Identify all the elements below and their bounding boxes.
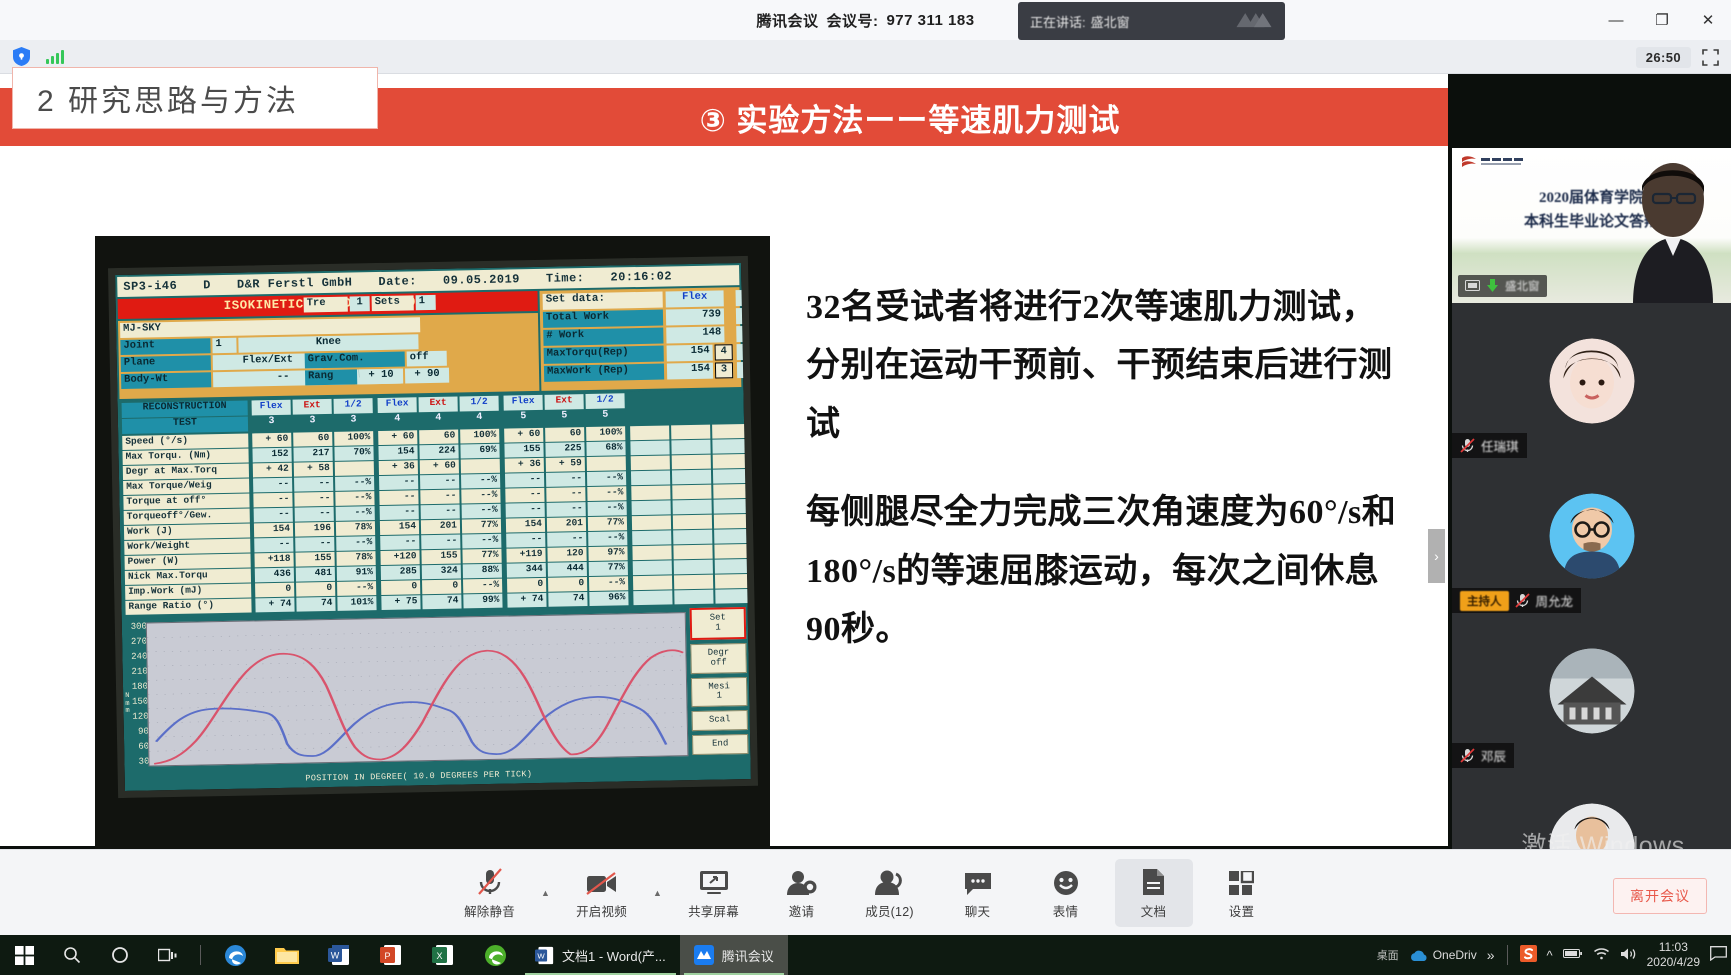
meeting-toolbar: 解除静音▲开启视频▲共享屏幕邀请成员(12)聊天表情文档设置 英 离开会议 [0,849,1731,935]
set-data-row-label-2: MaxTorqu(Rep) [544,346,664,364]
current-speaker-pill: 正在讲话: 盛北窗 [1018,2,1285,40]
maximize-button[interactable]: ❐ [1639,0,1685,40]
results-group-number: 3 [252,416,291,432]
results-group-header: 1/2 [459,396,498,412]
crt-monitor: SP3-i46 D D&R Ferstl GmbH Date: 09.05.20… [108,256,758,798]
set-data-row3-flex: 154 [667,363,713,380]
results-cell: -- [294,492,333,507]
results-cell: 120 [547,547,586,562]
mic-off-icon [1460,748,1475,763]
tray-date: 2020/4/29 [1647,955,1700,970]
results-cell-empty [715,574,754,589]
results-cell: -- [379,475,418,490]
task-view-icon[interactable] [144,935,192,975]
tray-onedrive-label: OneDriv [1433,948,1477,962]
set-data-row1-flex: 148 [666,326,724,343]
toolbar-mute-button[interactable]: 解除静音 [451,859,529,927]
avatar [1549,493,1634,578]
results-cell: + 59 [546,457,585,472]
results-group-header: Flex [378,397,417,413]
university-logo-icon [1461,155,1533,169]
results-group-header: Flex [503,395,542,411]
results-cell: 0 [548,577,587,592]
results-cell: 224 [419,444,458,459]
toolbar-docs-button[interactable]: 文档 [1115,859,1193,927]
participant-rail[interactable]: 2020届体育学院 本科生毕业论文答辩 [1452,148,1731,923]
tile-name-bar: 邓辰 [1452,743,1514,768]
leave-meeting-button[interactable]: 离开会议 [1613,878,1707,914]
set-data-row2-rep1: 4 [715,344,733,360]
taskbar-browser-icon[interactable] [469,935,521,975]
participant-name: 任瑞琪 [1481,436,1519,455]
torque-position-graph [146,612,689,766]
file-explorer-icon [275,945,299,965]
results-cell: --% [461,489,500,504]
results-cell-empty [633,575,672,590]
page-title: ③ 实验方法ーー等速肌力测试 [390,90,1430,144]
screen-share-icon[interactable] [1465,280,1480,293]
meeting-number-label: 会议号: [826,10,878,31]
machine-field-joint-v2: Knee [238,334,418,352]
results-cell-empty [714,544,753,559]
volume-icon[interactable] [1620,947,1637,964]
taskbar-window[interactable]: 腾讯会议 [680,935,788,975]
window-controls: — ❐ ✕ [1593,0,1731,40]
results-cell-empty [715,589,754,604]
browser-icon [484,944,507,967]
machine-date: 09.05.2019 [443,273,520,287]
results-cell: -- [254,538,293,553]
results-cell: 100% [334,431,373,446]
results-group-header: Ext [293,399,332,415]
svg-text:P: P [384,951,390,961]
set-data-col-flex: Flex [666,290,724,307]
results-cell: 100% [460,429,499,444]
toolbar-emoji-button[interactable]: 表情 [1027,859,1105,927]
results-cell: -- [546,487,585,502]
close-button[interactable]: ✕ [1685,0,1731,40]
machine-field-range-min: + 10 [359,369,403,385]
results-cell-empty [633,560,672,575]
tile-name-bar: 主持人周允龙 [1452,588,1581,613]
results-cell: 97% [588,546,627,561]
results-cell: --% [462,534,501,549]
results-cell: --% [335,491,374,506]
tray-clock[interactable]: 11:03 2020/4/29 [1647,940,1700,970]
taskbar-pinned-apps: WPX [209,935,521,975]
toolbar-emoji-label: 表情 [1053,901,1078,920]
results-cell: 74 [422,594,461,609]
minimize-button[interactable]: — [1593,0,1639,40]
results-cell-empty [672,455,711,470]
results-cell-empty [632,530,671,545]
toolbar-mute-label: 解除静音 [464,901,515,920]
smiley-icon [1053,866,1079,896]
results-row-label: Max Torqu. (Nm) [122,449,248,465]
results-cell: --% [461,474,500,489]
tray-chevron-up-icon[interactable]: ^ [1547,948,1553,963]
results-cell: 285 [381,565,420,580]
results-cell: 201 [547,517,586,532]
taskbar-edge-icon[interactable] [209,935,261,975]
results-row-label: Speed (°/s) [122,434,248,450]
results-cell: -- [295,537,334,552]
results-table-mount: RECONSTRUCTIONTESTSpeed (°/s)Max Torqu. … [120,389,746,619]
word-icon: W [328,944,350,966]
results-cell: -- [547,532,586,547]
results-group-header: Ext [544,394,583,410]
results-row-label: Torque at off° [123,494,249,510]
results-cell: 0 [381,580,420,595]
toolbar-share-button[interactable]: 共享屏幕 [675,859,753,927]
results-cell: 344 [507,563,546,578]
graph-y-axis-label: Nmm [125,693,130,716]
statusbar-right: 26:50 [1636,40,1725,74]
video-tile-self[interactable]: 2020届体育学院 本科生毕业论文答辩 [1452,148,1731,303]
app-name: 腾讯会议 [756,10,818,31]
results-cell [461,459,500,474]
battery-icon[interactable] [1563,948,1583,962]
self-ppt-background: 2020届体育学院 本科生毕业论文答辩 [1452,148,1731,303]
graph-y-tick: 120 [132,712,148,721]
results-cell-empty [714,514,753,529]
machine-field-range-max: + 90 [405,368,449,384]
video-tile[interactable]: 主持人周允龙 [1452,458,1731,613]
results-cell-empty [631,485,670,500]
results-cell: 96% [589,591,628,606]
self-tile-controls[interactable]: 盛北窗 [1458,275,1547,297]
notification-icon[interactable] [1710,946,1727,964]
results-cell: + 60 [420,459,459,474]
results-cell: --% [588,501,627,516]
results-cell-empty [632,500,671,515]
results-group-number: 5 [504,411,543,427]
search-icon[interactable] [48,935,96,975]
results-cell: 154 [506,518,545,533]
tray-onedrive[interactable]: OneDriv [1409,948,1477,962]
machine-field-sets-label: Sets [372,295,414,311]
toolbar-members-button[interactable]: 成员(12) [851,859,929,927]
mic-off-icon [477,866,503,896]
results-cell: +118 [254,553,293,568]
taskbar-window-title: 文档1 - Word(产... [562,946,666,965]
results-cell-empty [673,515,712,530]
set-data-title: Set data: [543,292,663,310]
graph-y-tick: 210 [131,668,147,677]
results-row-label: Work/Weight [124,539,250,555]
results-cell [587,456,626,471]
results-cell: 217 [293,447,332,462]
toolbar-video-label: 开启视频 [576,901,627,920]
results-cell-empty [674,590,713,605]
results-cell: + 74 [255,598,294,613]
wifi-icon[interactable] [1593,947,1610,963]
results-cell-empty [713,454,752,469]
machine-date-label: Date: [378,275,417,288]
tray-overflow[interactable]: » [1487,947,1495,963]
results-cell: -- [380,505,419,520]
results-cell: 324 [422,564,461,579]
graph-y-tick: 270 [131,638,147,647]
tray-divider [1507,945,1508,965]
machine-code: D [203,279,211,292]
results-cell: 70% [334,446,373,461]
toolbar-invite-button[interactable]: 邀请 [763,859,841,927]
toolbar-settings-button[interactable]: 设置 [1203,859,1281,927]
word-icon: W [535,946,554,965]
taskbar-powerpoint-icon[interactable]: P [365,935,417,975]
results-cell: -- [254,508,293,523]
graph-svg [147,613,688,765]
results-cell: 154 [380,520,419,535]
side-keys-mount: Set1DegroffMesi1ScalEnd [690,607,749,755]
slide-paragraph-2: 每侧腿尽全力完成三次角速度为60°/s和180°/s的等速屈膝运动，每次之间休息… [806,484,1406,659]
security-shield-icon[interactable] [8,44,34,70]
results-cell: 225 [545,442,584,457]
results-cell: -- [379,490,418,505]
set-data-row-label-1: # Work [543,328,663,346]
fullscreen-icon[interactable] [1695,44,1725,70]
slide-section-chip: 2 研究思路与方法 [12,67,378,129]
results-cell: + 60 [504,428,543,443]
results-cell: 481 [296,567,335,582]
toolbar-members-label: 成员(12) [865,901,913,920]
tencent-meeting-icon [694,945,714,965]
machine-field-grav-v: off [407,351,447,367]
results-cell-empty [671,425,710,440]
results-cell: 60 [545,427,584,442]
meeting-number: 977 311 183 [886,12,974,29]
results-group-number: 3 [334,414,373,430]
grid-settings-icon [1229,866,1254,896]
slide-paragraph-1: 32名受试者将进行2次等速肌力测试，分别在运动干预前、干预结束后进行测试 [806,279,1406,454]
onedrive-icon [1409,949,1428,962]
chat-bubble-icon [964,866,992,896]
graph-y-tick: 240 [131,653,147,662]
results-cell: + 60 [378,430,417,445]
toolbar-settings-label: 设置 [1229,901,1254,920]
results-cell: -- [295,507,334,522]
results-group-number: 5 [586,409,625,425]
results-cell: + 36 [505,458,544,473]
results-cell: 77% [589,561,628,576]
svg-text:X: X [436,951,442,961]
machine-device: SP3-i46 [123,280,177,294]
set-data-row2-ext: 224 [737,343,758,360]
results-cell: 0 [507,578,546,593]
download-icon[interactable] [1486,279,1499,293]
results-cell: -- [294,477,333,492]
collapse-rail-button[interactable]: › [1428,529,1445,583]
machine-side-key[interactable]: Set1 [690,607,747,640]
document-icon [1142,866,1165,896]
graph-y-tick: 300 [131,623,147,632]
toolbar-video-caret[interactable]: ▲ [651,859,665,927]
results-corner-2: TEST [122,417,248,434]
titlebar-center: 腾讯会议 会议号: 977 311 183 [0,0,1731,40]
taskbar-excel-icon[interactable]: X [417,935,469,975]
results-cell: 78% [336,521,375,536]
machine-time: 20:16:02 [610,270,672,284]
machine-set-data: Set data: Flex Ext 1/2 Max Total Work 73… [539,287,741,391]
results-cell: 88% [463,564,502,579]
results-cell: 0 [255,583,294,598]
results-cell-empty [715,559,754,574]
results-cell-empty [712,424,751,439]
graph-y-tick: 180 [132,683,148,692]
taskbar-word-icon[interactable]: W [313,935,365,975]
results-cell: --% [462,504,501,519]
participant-name: 周允龙 [1536,591,1574,610]
results-cell-empty [630,425,669,440]
host-badge: 主持人 [1460,591,1509,611]
results-cell: 101% [337,596,376,611]
set-data-row0-ext: 959 [736,307,758,324]
results-group-number: 4 [419,413,458,429]
machine-side-keys: Set1DegroffMesi1ScalEnd [690,607,749,772]
mic-off-icon [1460,438,1475,453]
results-row-label: Max Torque/Weig [123,479,249,495]
results-cell: + 60 [252,433,291,448]
results-cell: 444 [548,562,587,577]
machine-side-key[interactable]: Mesi1 [691,677,748,708]
results-cell: 74 [548,592,587,607]
results-row-label: Imp.Work (mJ) [125,584,251,600]
results-cell: 77% [462,519,501,534]
results-cell: 155 [295,552,334,567]
results-cell: -- [505,473,544,488]
cortana-circle-icon[interactable] [96,935,144,975]
results-cell: + 42 [253,463,292,478]
toolbar-video-button[interactable]: 开启视频 [563,859,641,927]
results-row-label: Range Ratio (°) [125,599,251,615]
toolbar-mute-caret[interactable]: ▲ [539,859,553,927]
results-row-label: Power (W) [124,554,250,570]
share-screen-icon [699,866,729,896]
system-tray: 桌面 OneDriv » ^ 11:03 2020/4/29 [1377,935,1731,975]
taskbar-divider [200,945,201,965]
machine-side-key[interactable]: End [692,734,748,755]
machine-time-label: Time: [546,272,585,285]
window-titlebar: 腾讯会议 会议号: 977 311 183 正在讲话: 盛北窗 — ❐ ✕ [0,0,1731,40]
results-cell: +119 [506,548,545,563]
machine-field-tre-v: 1 [350,296,370,311]
results-cell: -- [505,488,544,503]
video-tile[interactable]: 邓辰 [1452,613,1731,768]
results-cell: 154 [378,445,417,460]
taskbar-window[interactable]: W文档1 - Word(产... [521,935,680,975]
set-data-row3-rep1: 3 [715,362,733,378]
results-cell: --% [587,471,626,486]
svg-text:W: W [537,951,545,960]
machine-field-joint-v1: 1 [212,338,236,353]
results-cell-empty [631,455,670,470]
taskbar-file-explorer-icon[interactable] [261,935,313,975]
results-cell: 99% [463,594,502,609]
results-cell: -- [253,493,292,508]
shared-screen-stage: 2 研究思路与方法 ③ 实验方法ーー等速肌力测试 SP3-i46 D D&R F… [0,74,1731,849]
results-corner-1: RECONSTRUCTION [122,401,248,418]
results-cell-empty [674,575,713,590]
results-group-header: 1/2 [334,398,373,414]
results-cell-empty [630,440,669,455]
network-signal-icon[interactable] [42,44,68,70]
results-cell: --% [588,531,627,546]
results-cell: 155 [421,549,460,564]
tray-desktop-label[interactable]: 桌面 [1377,947,1399,963]
results-cell: 60 [419,429,458,444]
results-cell: 78% [336,551,375,566]
machine-left-fields: MJ-SKY Joint 1 Knee Plane Flex/Ext Body-… [118,313,539,399]
results-cell: 100% [586,426,625,441]
results-cell: + 36 [379,460,418,475]
results-cell: --% [336,506,375,521]
isokinetic-machine-photo: SP3-i46 D D&R Ferstl GmbH Date: 09.05.20… [95,236,770,876]
machine-field-sets-v: 1 [416,295,436,310]
set-data-row-label-3: MaxWork (Rep) [544,364,664,382]
results-group-number: 3 [293,415,332,431]
set-data-row1-ext: 191 [736,325,758,342]
results-group-number: 5 [545,410,584,426]
machine-side-key[interactable]: Degroff [690,643,747,674]
self-tile-name: 盛北窗 [1505,278,1540,294]
svg-text:W: W [331,951,340,961]
results-row-label: Nick Max.Torqu [125,569,251,585]
tile-name-bar: 任瑞琪 [1452,433,1527,458]
results-group-header: Ext [419,397,458,413]
toolbar-invite-label: 邀请 [789,901,814,920]
powerpoint-icon: P [380,944,402,966]
results-cell: --% [463,579,502,594]
results-group-header: 1/2 [585,393,624,409]
results-cell: 91% [337,566,376,581]
invite-person-icon [787,866,817,896]
set-data-row2-flex: 154 [667,345,713,362]
mic-off-icon [1515,593,1530,608]
graph-y-tick: 150 [132,697,148,706]
avatar [1549,648,1634,733]
meeting-timer: 26:50 [1636,47,1691,68]
results-cell: -- [380,535,419,550]
video-tile[interactable]: 任瑞琪 [1452,303,1731,458]
machine-side-key[interactable]: Scal [692,710,748,731]
tray-time: 11:03 [1647,940,1700,955]
results-cell: -- [253,478,292,493]
results-cell: --% [587,486,626,501]
results-cell: 201 [421,519,460,534]
camera-off-icon [586,866,618,896]
results-cell-empty [674,560,713,575]
results-cell: 436 [255,568,294,583]
toolbar-chat-button[interactable]: 聊天 [939,859,1017,927]
results-cell: -- [421,504,460,519]
results-row-label: Work (J) [124,524,250,540]
speaking-name: 盛北窗 [1091,12,1130,31]
results-cell [335,461,374,476]
results-cell: 155 [504,443,543,458]
results-cell-empty [673,500,712,515]
results-cell-empty [672,470,711,485]
toolbar-share-label: 共享屏幕 [688,901,739,920]
tray-sogou-icon[interactable] [1520,945,1537,965]
results-cell: --% [335,476,374,491]
results-cell: --% [337,581,376,596]
results-cell: -- [506,503,545,518]
results-cell: -- [546,472,585,487]
results-cell-empty [673,545,712,560]
windows-start-icon[interactable] [0,935,48,975]
toolbar-chat-label: 聊天 [965,901,990,920]
